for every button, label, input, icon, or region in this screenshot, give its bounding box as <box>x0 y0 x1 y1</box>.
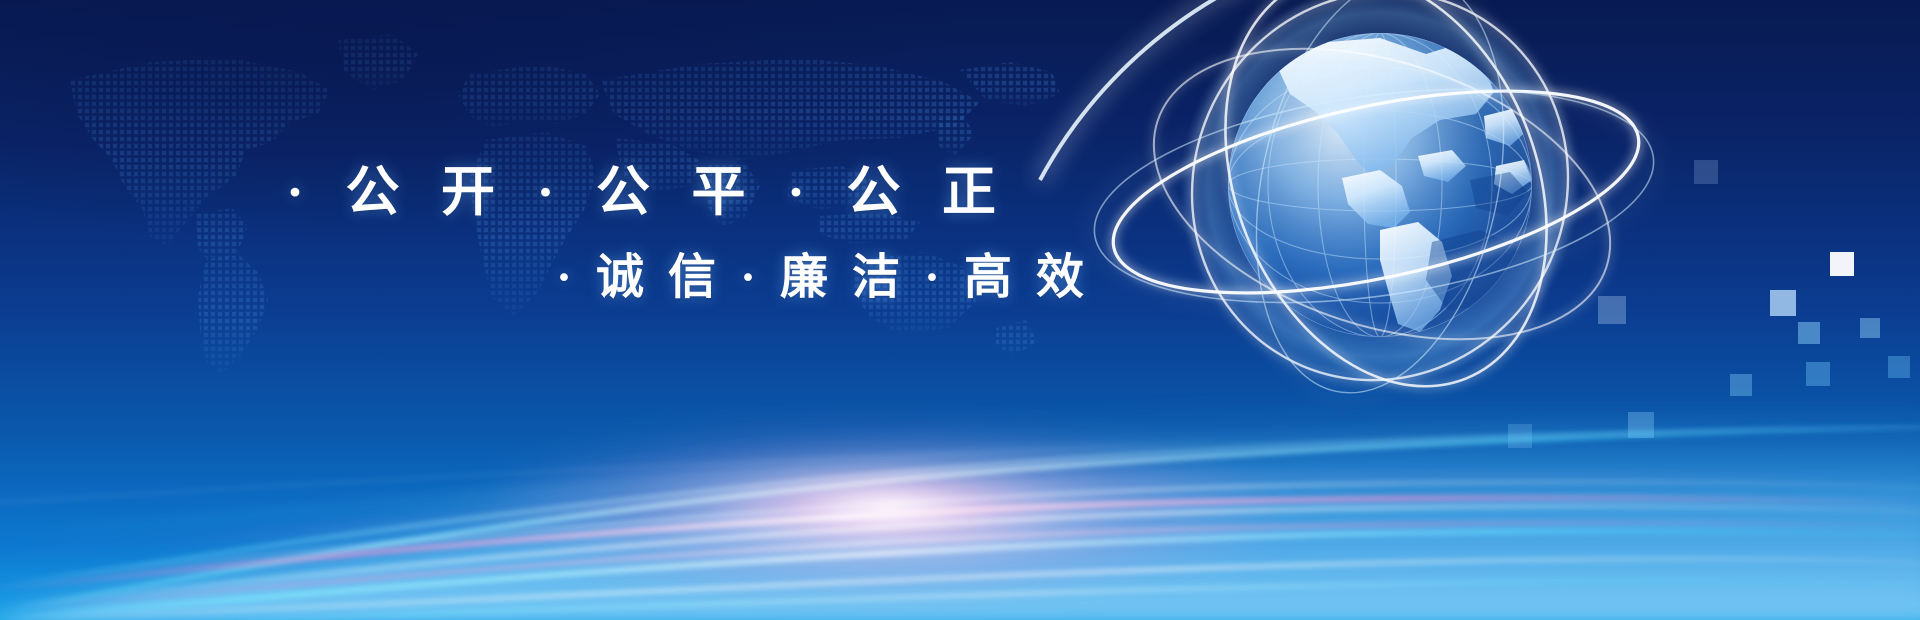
slogan-line-1: · 公 开 · 公 平 · 公 正 <box>286 147 1010 226</box>
banner-canvas: · 公 开 · 公 平 · 公 正 · 诚 信 · 廉 洁 · 高 效 <box>0 0 1920 620</box>
slogan-block: · 公 开 · 公 平 · 公 正 · 诚 信 · 廉 洁 · 高 效 <box>0 0 1920 620</box>
slogan-line-2: · 诚 信 · 廉 洁 · 高 效 <box>556 237 1090 307</box>
